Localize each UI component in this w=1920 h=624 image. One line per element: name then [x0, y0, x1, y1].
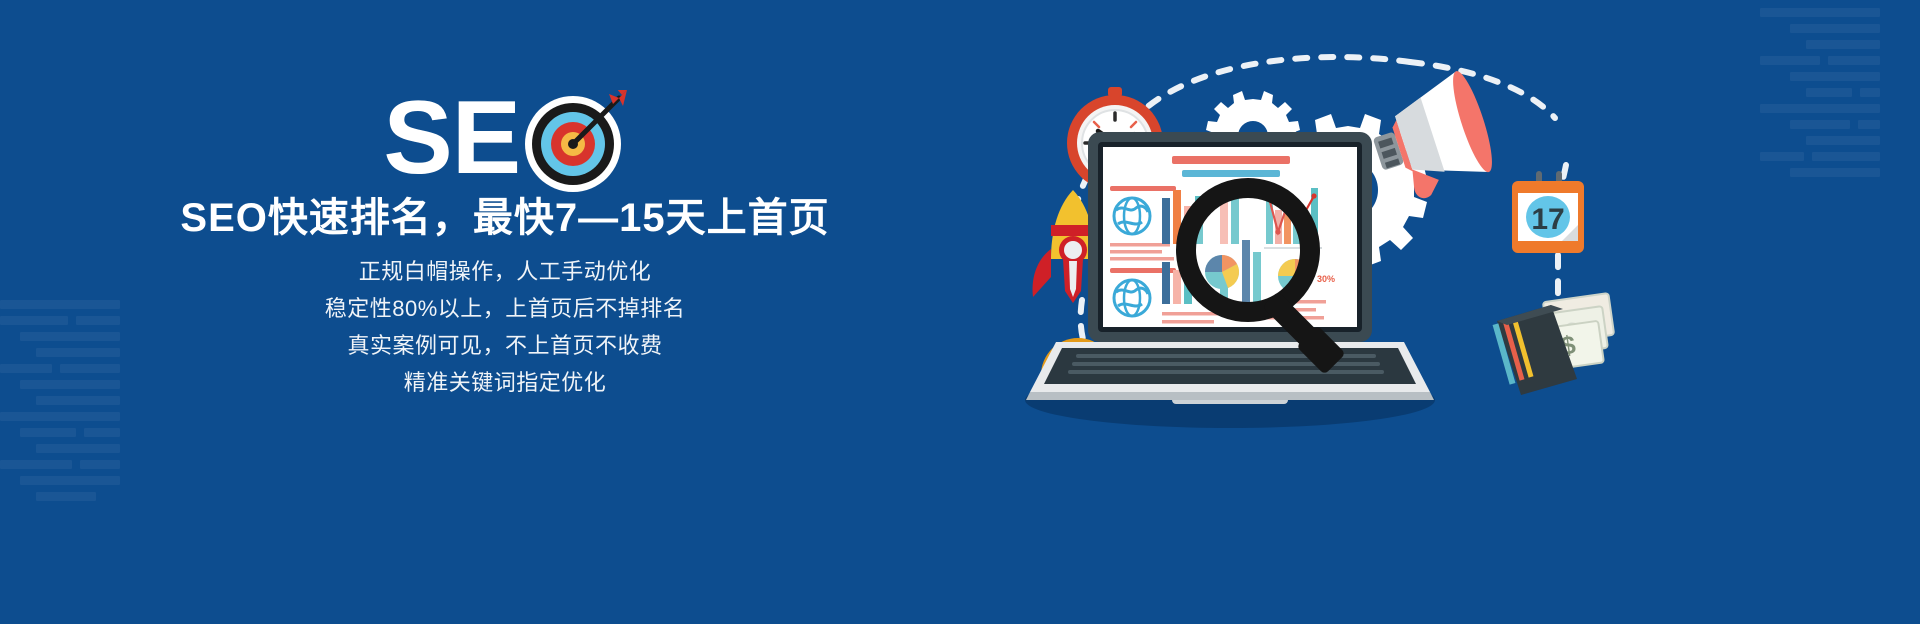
subtitle-line: 稳定性80%以上，上首页后不掉排名: [0, 293, 1010, 325]
seo-promo-banner: SE: [0, 0, 1920, 624]
calendar-icon: 17: [1512, 171, 1584, 253]
subtitle-list: 正规白帽操作，人工手动优化 稳定性80%以上，上首页后不掉排名 真实案例可见，不…: [0, 256, 1010, 404]
text-content-column: SE: [0, 0, 1010, 624]
subtitle-line: 正规白帽操作，人工手动优化: [0, 256, 1010, 288]
page-title: SEO快速排名，最快7—15天上首页: [0, 190, 1010, 246]
seo-logo: SE: [0, 82, 1010, 194]
seo-logo-text: SE: [383, 82, 520, 194]
wallet-cash-icon: $: [1493, 293, 1618, 395]
seo-illustration: $ 17: [1010, 0, 1710, 624]
target-bullseye-icon: [523, 90, 627, 194]
pie-percent-label: 30%: [1317, 274, 1335, 284]
subtitle-line: 精准关键词指定优化: [0, 367, 1010, 399]
subtitle-line: 真实案例可见，不上首页不收费: [0, 330, 1010, 362]
calendar-day-label: 17: [1531, 203, 1564, 236]
